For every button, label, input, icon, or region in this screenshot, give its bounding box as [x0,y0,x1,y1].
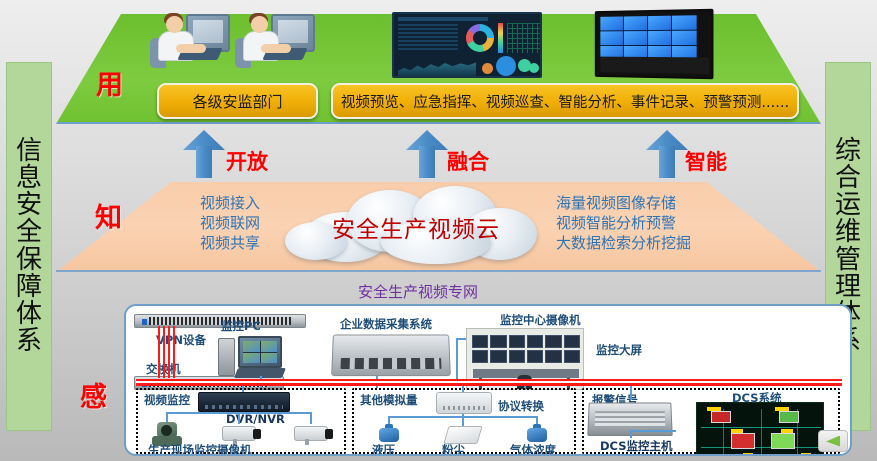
video-wall-display [595,9,714,80]
device-label-data-collection: 企业数据采集系统 [340,316,432,332]
cloud-title: 安全生产视频云 [285,186,547,264]
bullet-camera-icon [222,426,256,441]
label-dcs-host: DCS监控主机 [600,438,672,454]
sidebar-right-char: 综 [835,138,861,165]
group-title-analog-signals: 其他模拟量 [360,392,418,408]
sidebar-left-char: 信 [16,138,42,165]
sidebar-left-char: 全 [16,219,42,246]
label-field-cameras: 生产现场监控摄像机 [148,442,252,456]
device-label-center-camera: 监控中心摄像机 [500,312,581,328]
network-bus-line [136,379,842,386]
arrow-intelligent-icon [646,130,688,178]
data-collection-server-icon [331,335,451,377]
label-protocol-conversion: 协议转换 [498,398,544,414]
sidebar-right-char: 管 [835,247,861,274]
pc-monitor-icon [238,336,282,368]
dcs-system-screen-icon [696,402,824,456]
label-dvr-nvr: DVR/NVR [226,412,285,426]
sidebar-left-char: 保 [16,247,42,274]
operators-illustration [150,8,315,70]
sidebar-right-char: 理 [835,274,861,301]
sidebar-left-char: 体 [16,301,42,328]
group-title-video-surveillance: 视频监控 [144,392,190,408]
video-cloud-shape: 安全生产视频云 [285,186,547,264]
pc-tower-icon [218,338,235,376]
functions-box[interactable]: 视频预览、应急指挥、视频巡查、智能分析、事件记录、预警预测...... [331,83,799,119]
device-label-big-screen: 监控大屏 [596,342,642,358]
device-label-monitor-pc: 监控PC [221,318,261,334]
label-hydraulic: 液压 [372,442,395,456]
arrow-label-converge: 融合 [447,146,489,176]
arrow-label-open: 开放 [226,146,268,176]
diagram-canvas: 信 息 安 全 保 障 体 系 综 合 运 维 管 理 体 系 [0,0,877,461]
bullet-camera-icon [294,426,328,441]
layer-label-perception: 感 [80,375,107,414]
brand-leaf-icon [818,430,848,452]
arrow-open-icon [183,130,225,178]
sidebar-information-security: 信 息 安 全 保 障 体 系 [6,62,52,431]
label-dust: 粉尘 [442,442,465,456]
private-network-label: 安全生产视频专网 [358,281,478,302]
sidebar-left-char: 息 [16,165,42,192]
sidebar-left-char: 障 [16,274,42,301]
label-gas-concentration: 气体浓度 [510,442,556,456]
protocol-converter-icon [436,392,492,414]
sidebar-left-char: 系 [16,328,42,355]
arrow-label-intelligent: 智能 [685,146,727,176]
layer-label-know: 知 [95,196,122,235]
sidebar-right-char: 维 [835,219,861,246]
sidebar-right-char: 运 [835,192,861,219]
cloud-left-capabilities: 视频接入 视频联网 视频共享 [130,194,260,253]
layer-label-use: 用 [96,63,123,102]
cloud-right-capabilities: 海量视频图像存储 视频智能分析预警 大数据检索分析挖掘 [556,194,776,253]
sidebar-right-char: 合 [835,165,861,192]
bi-dashboard-screen [392,12,542,78]
infrastructure-panel: VPN设备 交换机 监控PC 企业数据采集系统 监控中心摄像机 [124,304,852,456]
sidebar-left-char: 安 [16,192,42,219]
dvr-nvr-icon [198,392,290,412]
departments-box[interactable]: 各级安监部门 [157,83,318,119]
arrow-converge-icon [406,130,448,178]
